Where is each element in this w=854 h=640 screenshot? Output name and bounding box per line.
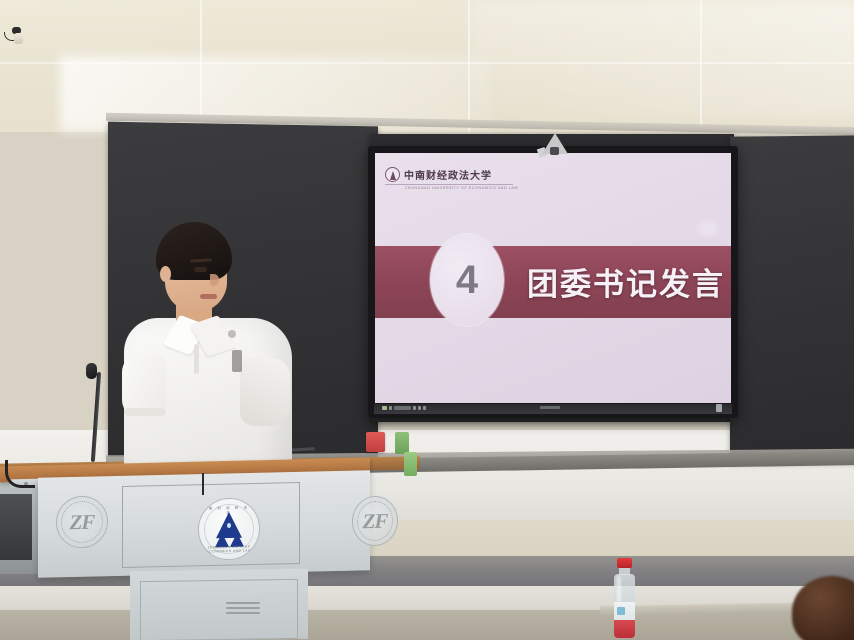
screen-glare — [697, 221, 719, 237]
blackboard-right-panel — [730, 135, 854, 462]
smart-display-screen[interactable]: 中南财经政法大学 ZHONGNAN UNIVERSITY OF ECONOMIC… — [375, 153, 731, 403]
green-box-object — [395, 432, 409, 454]
podium-cable — [5, 460, 35, 488]
slide-logo-subtext: ZHONGNAN UNIVERSITY OF ECONOMICS AND LAW — [405, 186, 518, 190]
presenter-shirt-pocket-mark — [232, 350, 242, 372]
presenter-mouth — [200, 294, 217, 299]
power-indicator-icon — [382, 406, 387, 410]
crest-ring-bottom-text: ZHONGNAN UNIV. OF ECONOMICS AND LAW — [199, 544, 259, 553]
podium-mic-cable — [202, 473, 204, 495]
podium-equipment-bay — [0, 494, 32, 560]
bottle-label — [614, 602, 635, 620]
slide-logo-text: 中南财经政法大学 — [404, 167, 492, 182]
presenter-shirt-badge-icon — [228, 330, 236, 338]
water-bottle — [612, 558, 637, 638]
podium-seal-right-letter: ZF — [363, 508, 388, 534]
presenter-shirt-placket — [194, 344, 199, 374]
camera-mount-icon — [536, 133, 576, 159]
bezel-button-2[interactable] — [413, 406, 416, 410]
slide-title: 团委书记发言 — [527, 259, 725, 304]
bottle-cap-icon — [617, 558, 632, 568]
bezel-port-strip[interactable] — [394, 406, 411, 410]
microphone-head-icon — [86, 363, 97, 379]
red-box-object — [366, 432, 385, 452]
floor-foreground-band — [0, 610, 854, 640]
slide-number-badge: 4 — [430, 234, 504, 326]
podium-vent-slots-icon — [226, 602, 260, 616]
slide-logo-divider — [385, 184, 513, 185]
slide-number: 4 — [456, 260, 478, 300]
slide-university-logo: 中南财经政法大学 — [385, 167, 492, 182]
green-bottle-object — [404, 452, 417, 476]
presenter-figure — [118, 222, 298, 472]
presenter-right-sleeve — [240, 358, 290, 426]
bezel-button-3[interactable] — [418, 406, 421, 410]
bezel-button-1[interactable] — [389, 406, 392, 410]
camera-lens-icon — [550, 147, 559, 155]
display-side-port — [716, 404, 722, 412]
podium-university-crest: 中 南 财 经 政 法 大 学 ZHONGNAN UNIV. OF ECONOM… — [198, 497, 260, 560]
display-control-buttons[interactable] — [382, 406, 426, 410]
podium-seal-left-letter: ZF — [70, 509, 95, 535]
lecture-hall-scene: 中南财经政法大学 ZHONGNAN UNIVERSITY OF ECONOMIC… — [0, 0, 854, 640]
presenter-eye — [194, 267, 207, 272]
display-brand-logo — [540, 406, 560, 409]
university-mark-icon — [385, 167, 400, 182]
podium-base-panel — [140, 579, 298, 640]
bezel-button-4[interactable] — [423, 406, 426, 410]
presenter-left-cuff — [124, 408, 166, 416]
presenter-ear — [160, 266, 171, 282]
wall-sensor-icon — [4, 27, 30, 47]
